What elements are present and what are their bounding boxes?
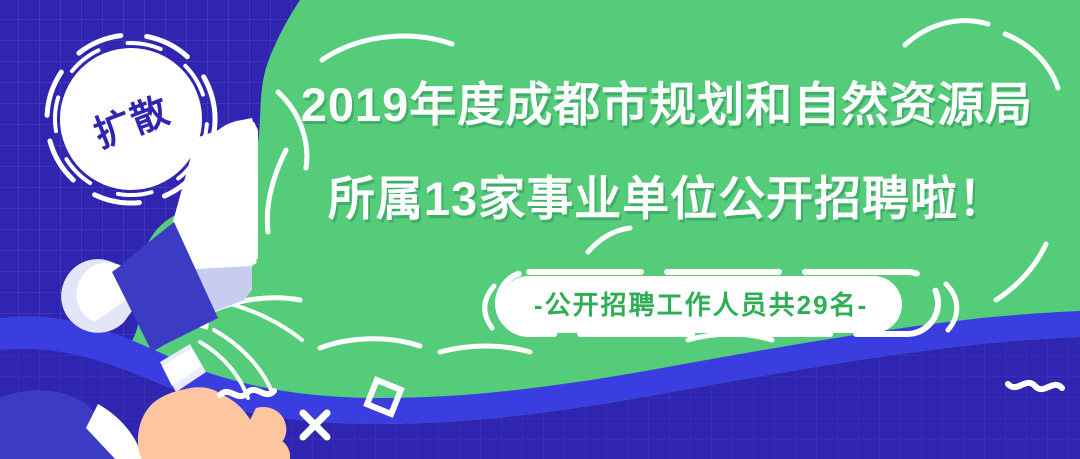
headline-line-1: 2019年度成都市规划和自然资源局 bbox=[262, 76, 1072, 134]
spread-stamp-badge[interactable]: 扩散 bbox=[60, 48, 202, 190]
headline-block: 2019年度成都市规划和自然资源局 所属13家事业单位公开招聘啦！ bbox=[262, 76, 1072, 228]
recruitment-count-badge: -公开招聘工作人员共29名- bbox=[500, 276, 902, 333]
headline-line-2: 所属13家事业单位公开招聘啦！ bbox=[262, 170, 1072, 228]
spread-stamp-label: 扩散 bbox=[85, 80, 177, 158]
promotional-banner: 扩散 2019年度成都市规划和自然资源局 所属13家事业单位公开招聘啦！ -公开… bbox=[0, 0, 1080, 459]
recruitment-count-label: -公开招聘工作人员共29名- bbox=[500, 276, 902, 333]
